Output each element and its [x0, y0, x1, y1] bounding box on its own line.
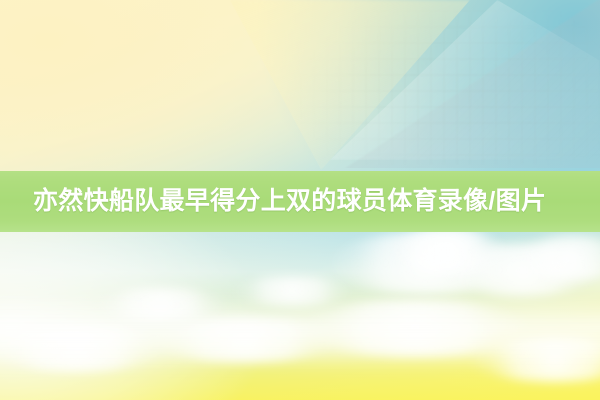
title-band: 亦然快船队最早得分上双的球员体育录像/图片: [0, 171, 600, 232]
cloud-haze-band: [0, 295, 600, 370]
image-banner: 亦然快船队最早得分上双的球员体育录像/图片: [0, 0, 600, 400]
banner-title: 亦然快船队最早得分上双的球员体育录像/图片: [33, 189, 546, 214]
